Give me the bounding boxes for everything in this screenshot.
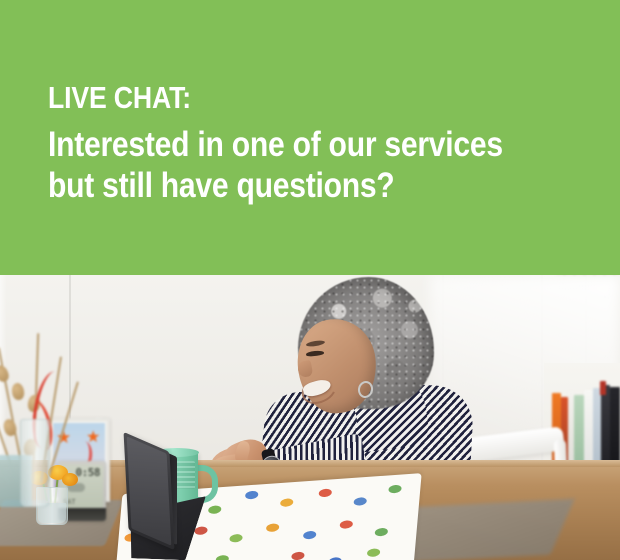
glass-vase <box>20 419 50 507</box>
placemat-dot <box>266 523 280 532</box>
headline-line-2: but still have questions? <box>48 165 533 206</box>
headline-block: LIVE CHAT: Interested in one of our serv… <box>0 0 620 275</box>
placemat-dot <box>303 531 317 540</box>
placemat-dot <box>280 498 294 507</box>
tablet-bezel <box>127 436 172 546</box>
headline-text-group: LIVE CHAT: Interested in one of our serv… <box>48 80 612 206</box>
placemat-dot <box>339 520 353 529</box>
placemat-dot <box>245 491 259 500</box>
placemat-dot <box>229 534 243 543</box>
placemat-dot <box>318 488 332 497</box>
placemat-dot <box>367 548 381 557</box>
seed-pod <box>11 382 25 401</box>
eyebrow-label: LIVE CHAT: <box>48 80 533 116</box>
live-chat-banner: LIVE CHAT: Interested in one of our serv… <box>0 0 620 560</box>
dried-flower-arrangement <box>0 279 110 529</box>
book-top-accent <box>600 381 606 395</box>
placemat-dot <box>353 497 367 506</box>
tablet-device[interactable] <box>118 443 230 560</box>
hero-photo: ★ ★ 0:58 SAT <box>0 275 620 560</box>
seed-pod <box>0 363 11 383</box>
placemat-dot <box>388 485 402 494</box>
placemat-dot <box>375 528 389 537</box>
placemat-dot <box>291 551 305 560</box>
headline-line-1: Interested in one of our services <box>48 124 533 165</box>
